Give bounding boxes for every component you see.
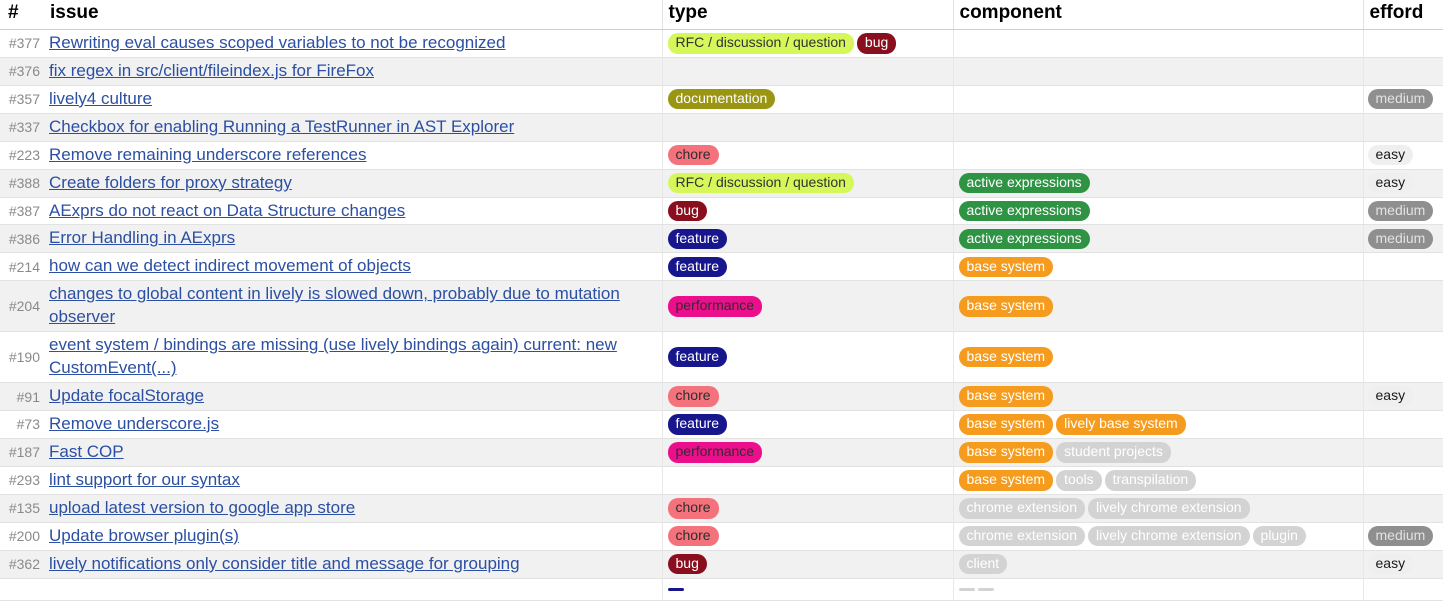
table-header: # issue type component efford (0, 0, 1443, 29)
type-cell: performance (662, 281, 953, 332)
issue-title-cell: Create folders for proxy strategy (44, 169, 662, 197)
issue-number (0, 578, 44, 600)
component-cell: active expressions (953, 225, 1363, 253)
component-tag[interactable]: base system (959, 414, 1054, 435)
type-tag[interactable]: feature (668, 229, 728, 250)
effort-cell: easy (1363, 169, 1443, 197)
issue-number: #377 (0, 29, 44, 57)
issue-number: #204 (0, 281, 44, 332)
type-cell: bug (662, 550, 953, 578)
issue-number: #91 (0, 383, 44, 411)
component-cell (953, 113, 1363, 141)
component-cell (953, 85, 1363, 113)
issue-title-link[interactable]: Update browser plugin(s) (49, 526, 239, 545)
effort-tag[interactable]: easy (1368, 145, 1414, 166)
component-tag[interactable]: transpilation (1105, 470, 1197, 491)
type-tag[interactable]: chore (668, 526, 719, 547)
issue-number: #376 (0, 57, 44, 85)
issue-title-cell: changes to global content in lively is s… (44, 281, 662, 332)
issue-title-link[interactable]: Remove remaining underscore references (49, 145, 367, 164)
component-cell: base system (953, 332, 1363, 383)
table-row: #337Checkbox for enabling Running a Test… (0, 113, 1443, 141)
table-row: #362lively notifications only consider t… (0, 550, 1443, 578)
issue-title-cell: Remove underscore.js (44, 411, 662, 439)
component-tag[interactable]: chrome extension (959, 498, 1086, 519)
component-cell: active expressions (953, 169, 1363, 197)
effort-cell: medium (1363, 197, 1443, 225)
issue-title-cell: lively notifications only consider title… (44, 550, 662, 578)
issue-number: #214 (0, 253, 44, 281)
issue-title-link[interactable]: Error Handling in AExprs (49, 228, 235, 247)
issue-title-link[interactable]: lively4 culture (49, 89, 152, 108)
issue-title-cell: lively4 culture (44, 85, 662, 113)
component-cell: client (953, 550, 1363, 578)
issue-number: #223 (0, 141, 44, 169)
table-row (0, 578, 1443, 600)
table-row: #91Update focalStoragechorebase systemea… (0, 383, 1443, 411)
issue-title-link[interactable]: Checkbox for enabling Running a TestRunn… (49, 117, 514, 136)
issue-title-cell: Error Handling in AExprs (44, 225, 662, 253)
issue-title-cell (44, 578, 662, 600)
table-row: #200Update browser plugin(s)chorechrome … (0, 522, 1443, 550)
type-cell: feature (662, 225, 953, 253)
issue-title-link[interactable]: Fast COP (49, 442, 124, 461)
type-tag[interactable]: performance (668, 442, 763, 463)
issue-title-link[interactable]: how can we detect indirect movement of o… (49, 256, 411, 275)
effort-tag[interactable]: medium (1368, 89, 1434, 110)
issue-number: #293 (0, 466, 44, 494)
column-header-effort[interactable]: efford (1363, 0, 1443, 29)
component-tag[interactable]: client (959, 554, 1008, 575)
effort-tag[interactable]: medium (1368, 201, 1434, 222)
effort-cell (1363, 57, 1443, 85)
component-cell: base system (953, 253, 1363, 281)
issue-title-link[interactable]: changes to global content in lively is s… (49, 284, 620, 326)
component-tag[interactable]: base system (959, 386, 1054, 407)
issue-number: #362 (0, 550, 44, 578)
type-tag[interactable]: feature (668, 414, 728, 435)
type-cell: performance (662, 438, 953, 466)
type-cell: feature (662, 253, 953, 281)
issue-title-cell: Fast COP (44, 438, 662, 466)
component-cell (953, 29, 1363, 57)
type-cell (662, 466, 953, 494)
issue-title-link[interactable]: Update focalStorage (49, 386, 204, 405)
effort-tag[interactable]: easy (1368, 173, 1414, 194)
type-tag[interactable]: feature (668, 347, 728, 368)
effort-cell (1363, 332, 1443, 383)
component-cell: active expressions (953, 197, 1363, 225)
type-cell: bug (662, 197, 953, 225)
component-tag[interactable]: lively chrome extension (1088, 498, 1250, 519)
type-tag[interactable]: chore (668, 386, 719, 407)
issue-title-link[interactable]: AExprs do not react on Data Structure ch… (49, 201, 405, 220)
component-tag[interactable]: base system (959, 257, 1054, 278)
component-tag[interactable] (978, 588, 994, 591)
effort-tag[interactable]: easy (1368, 386, 1414, 407)
issue-title-cell: Rewriting eval causes scoped variables t… (44, 29, 662, 57)
column-header-type[interactable]: type (662, 0, 953, 29)
component-tag[interactable]: lively chrome extension (1088, 526, 1250, 547)
issue-title-cell: upload latest version to google app stor… (44, 494, 662, 522)
column-header-issue[interactable]: issue (44, 0, 662, 29)
type-tag[interactable]: bug (857, 33, 896, 54)
issue-title-cell: Update focalStorage (44, 383, 662, 411)
type-tag[interactable]: documentation (668, 89, 776, 110)
issue-table: # issue type component efford #377Rewrit… (0, 0, 1443, 601)
table-row: #388Create folders for proxy strategyRFC… (0, 169, 1443, 197)
issue-number: #190 (0, 332, 44, 383)
issue-number: #200 (0, 522, 44, 550)
component-cell (953, 578, 1363, 600)
column-header-number[interactable]: # (0, 0, 44, 29)
table-row: #357lively4 culturedocumentationmedium (0, 85, 1443, 113)
component-tag[interactable]: base system (959, 347, 1054, 368)
table-body: #377Rewriting eval causes scoped variabl… (0, 29, 1443, 600)
effort-cell: easy (1363, 141, 1443, 169)
component-tag[interactable]: base system (959, 296, 1054, 317)
effort-cell (1363, 281, 1443, 332)
issue-number: #135 (0, 494, 44, 522)
issue-title-link[interactable]: fix regex in src/client/fileindex.js for… (49, 61, 374, 80)
issue-title-link[interactable]: Create folders for proxy strategy (49, 173, 292, 192)
effort-cell (1363, 494, 1443, 522)
component-tag[interactable]: chrome extension (959, 526, 1086, 547)
header-row: # issue type component efford (0, 0, 1443, 29)
component-tag[interactable]: active expressions (959, 201, 1090, 222)
effort-cell: medium (1363, 522, 1443, 550)
issue-title-cell: Checkbox for enabling Running a TestRunn… (44, 113, 662, 141)
effort-cell: medium (1363, 225, 1443, 253)
issue-title-cell: event system / bindings are missing (use… (44, 332, 662, 383)
table-row: #223Remove remaining underscore referenc… (0, 141, 1443, 169)
component-cell: base system (953, 281, 1363, 332)
effort-cell (1363, 411, 1443, 439)
type-tag[interactable]: bug (668, 201, 707, 222)
issue-number: #73 (0, 411, 44, 439)
table-row: #387AExprs do not react on Data Structur… (0, 197, 1443, 225)
type-tag[interactable] (668, 588, 684, 591)
type-cell: documentation (662, 85, 953, 113)
effort-tag[interactable]: easy (1368, 554, 1414, 575)
component-cell: base systemstudent projects (953, 438, 1363, 466)
table-row: #73Remove underscore.jsfeaturebase syste… (0, 411, 1443, 439)
issue-number: #187 (0, 438, 44, 466)
issue-title-link[interactable]: Remove underscore.js (49, 414, 219, 433)
issue-number: #387 (0, 197, 44, 225)
issue-title-cell: how can we detect indirect movement of o… (44, 253, 662, 281)
component-tag[interactable]: base system (959, 470, 1054, 491)
type-cell (662, 57, 953, 85)
component-tag[interactable]: student projects (1056, 442, 1171, 463)
type-cell: chore (662, 141, 953, 169)
type-cell: RFC / discussion / questionbug (662, 29, 953, 57)
component-tag[interactable] (959, 588, 975, 591)
issue-title-link[interactable]: lint support for our syntax (49, 470, 240, 489)
type-cell: feature (662, 332, 953, 383)
issue-number: #386 (0, 225, 44, 253)
issue-number: #337 (0, 113, 44, 141)
issue-title-link[interactable]: lively notifications only consider title… (49, 554, 520, 573)
table-row: #386Error Handling in AExprsfeatureactiv… (0, 225, 1443, 253)
component-tag[interactable]: lively base system (1056, 414, 1186, 435)
type-tag[interactable]: chore (668, 145, 719, 166)
type-tag[interactable]: bug (668, 554, 707, 575)
column-header-component[interactable]: component (953, 0, 1363, 29)
table-row: #190event system / bindings are missing … (0, 332, 1443, 383)
type-tag[interactable]: performance (668, 296, 763, 317)
table-row: #204changes to global content in lively … (0, 281, 1443, 332)
issue-number: #357 (0, 85, 44, 113)
type-tag[interactable]: RFC / discussion / question (668, 33, 854, 54)
type-cell (662, 113, 953, 141)
type-cell: chore (662, 383, 953, 411)
issue-title-cell: lint support for our syntax (44, 466, 662, 494)
component-tag[interactable]: base system (959, 442, 1054, 463)
component-cell (953, 141, 1363, 169)
type-cell: feature (662, 411, 953, 439)
effort-tag[interactable]: medium (1368, 229, 1434, 250)
effort-cell: medium (1363, 85, 1443, 113)
type-cell: chore (662, 494, 953, 522)
component-tag[interactable]: active expressions (959, 229, 1090, 250)
component-cell: chrome extensionlively chrome extension (953, 494, 1363, 522)
type-tag[interactable]: feature (668, 257, 728, 278)
table-row: #376fix regex in src/client/fileindex.js… (0, 57, 1443, 85)
effort-cell (1363, 466, 1443, 494)
issue-title-link[interactable]: upload latest version to google app stor… (49, 498, 355, 517)
type-cell: chore (662, 522, 953, 550)
type-tag[interactable]: RFC / discussion / question (668, 173, 854, 194)
type-cell (662, 578, 953, 600)
type-cell: RFC / discussion / question (662, 169, 953, 197)
component-cell: base systemtoolstranspilation (953, 466, 1363, 494)
table-row: #187Fast COPperformancebase systemstuden… (0, 438, 1443, 466)
issue-title-cell: Update browser plugin(s) (44, 522, 662, 550)
effort-cell: easy (1363, 550, 1443, 578)
effort-cell (1363, 438, 1443, 466)
effort-tag[interactable]: medium (1368, 526, 1434, 547)
component-cell: base system (953, 383, 1363, 411)
issue-title-link[interactable]: Rewriting eval causes scoped variables t… (49, 33, 505, 52)
issue-title-cell: Remove remaining underscore references (44, 141, 662, 169)
table-row: #135upload latest version to google app … (0, 494, 1443, 522)
component-cell (953, 57, 1363, 85)
effort-cell (1363, 29, 1443, 57)
table-row: #214how can we detect indirect movement … (0, 253, 1443, 281)
component-tag[interactable]: plugin (1253, 526, 1306, 547)
component-cell: base systemlively base system (953, 411, 1363, 439)
effort-cell (1363, 253, 1443, 281)
issue-title-cell: fix regex in src/client/fileindex.js for… (44, 57, 662, 85)
effort-cell (1363, 113, 1443, 141)
issue-title-cell: AExprs do not react on Data Structure ch… (44, 197, 662, 225)
effort-cell (1363, 578, 1443, 600)
table-row: #293lint support for our syntaxbase syst… (0, 466, 1443, 494)
effort-cell: easy (1363, 383, 1443, 411)
issue-number: #388 (0, 169, 44, 197)
component-tag[interactable]: active expressions (959, 173, 1090, 194)
component-tag[interactable]: tools (1056, 470, 1102, 491)
table-row: #377Rewriting eval causes scoped variabl… (0, 29, 1443, 57)
component-cell: chrome extensionlively chrome extensionp… (953, 522, 1363, 550)
type-tag[interactable]: chore (668, 498, 719, 519)
issue-title-link[interactable]: event system / bindings are missing (use… (49, 335, 617, 377)
